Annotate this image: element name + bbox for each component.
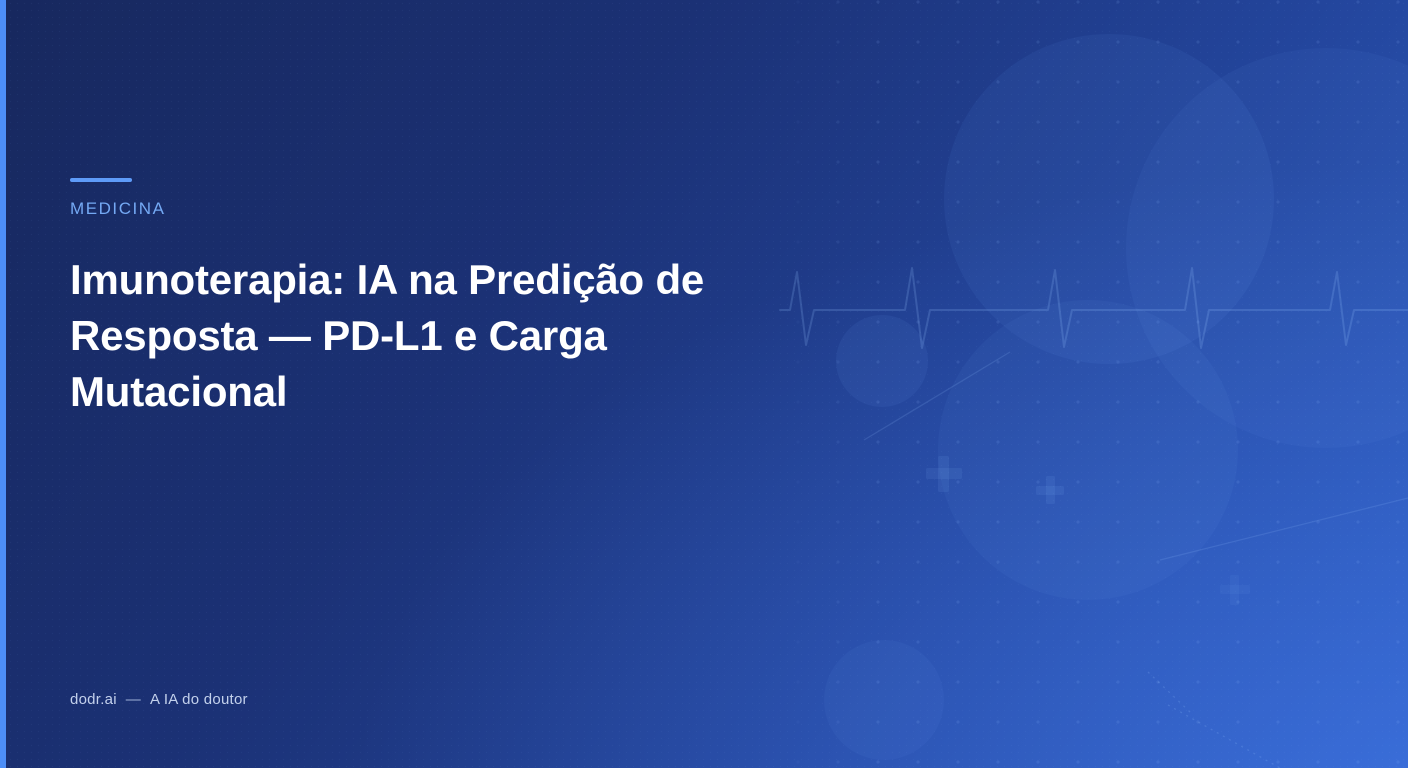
category-label: MEDICINA (70, 199, 166, 219)
cover-content: MEDICINA Imunoterapia: IA na Predição de… (70, 0, 790, 768)
decorative-circle-large-1 (944, 34, 1274, 364)
page-title: Imunoterapia: IA na Predição de Resposta… (70, 252, 770, 420)
medical-cross-icon-faint (1220, 575, 1250, 605)
footer-separator: — (126, 691, 141, 708)
article-cover-card: MEDICINA Imunoterapia: IA na Predição de… (0, 0, 1408, 768)
decorative-circle-large-2 (1126, 48, 1408, 448)
left-edge-accent-stripe (0, 0, 6, 768)
medical-cross-icons (926, 456, 1064, 504)
decorative-circle-large-3 (938, 300, 1238, 600)
brand-name: dodr.ai (70, 691, 117, 708)
decorative-circle-small-1 (836, 315, 928, 407)
diagonal-accent-line-dotted (1148, 672, 1280, 768)
ecg-heartbeat-line (780, 268, 1408, 348)
decorative-circle-small-2 (824, 640, 944, 760)
brand-tagline: A IA do doutor (150, 691, 248, 708)
dot-grid-pattern (760, 0, 1408, 768)
accent-bar (70, 178, 132, 182)
footer: dodr.ai — A IA do doutor (70, 691, 248, 708)
diagonal-accent-lines (864, 352, 1408, 560)
